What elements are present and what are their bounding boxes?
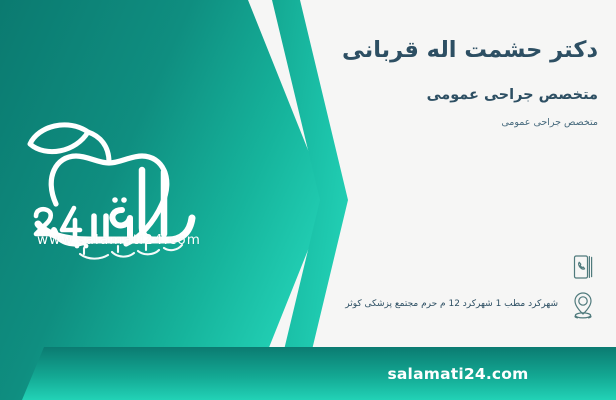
salamati-logo-mark bbox=[14, 112, 224, 272]
doctor-name: دکتر حشمت اله قربانی bbox=[300, 36, 598, 65]
card-content-pane: دکتر حشمت اله قربانی متخصص جراحی عمومی م… bbox=[300, 0, 616, 347]
footer-website-url[interactable]: salamati24.com bbox=[300, 347, 616, 400]
footer-bar: salamati24.com bbox=[0, 347, 616, 400]
brand-logo: www.salamati24.com bbox=[14, 112, 224, 272]
doctor-specialty-secondary: متخصص جراحی عمومی bbox=[300, 117, 598, 128]
doctor-specialty-primary: متخصص جراحی عمومی bbox=[300, 87, 598, 103]
logo-website-url: www.salamati24.com bbox=[14, 232, 224, 248]
business-card: www.salamati24.com دکتر حشمت اله قربانی … bbox=[0, 0, 616, 400]
